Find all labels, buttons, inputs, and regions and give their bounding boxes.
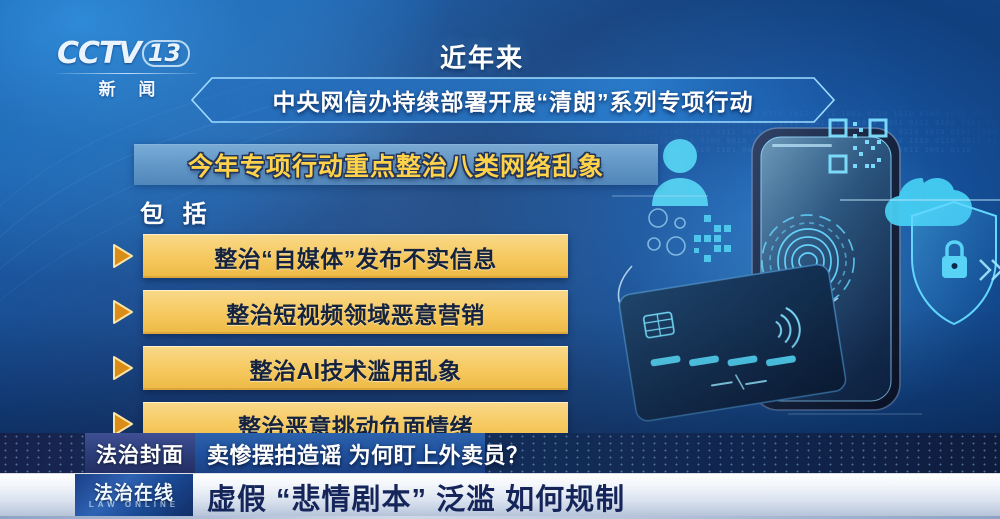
channel-number: 13 bbox=[142, 40, 190, 67]
headline-banner-text: 中央网信办持续部署开展“清朗”系列专项行动 bbox=[190, 76, 836, 124]
ticker-category-label: 法治封面 bbox=[85, 433, 195, 474]
headline-banner: 中央网信办持续部署开展“清朗”系列专项行动 bbox=[190, 76, 836, 124]
section-intro-label: 包 括 bbox=[140, 194, 213, 229]
channel-name: 新 闻 bbox=[57, 75, 197, 100]
list-item[interactable]: 整治短视频领域恶意营销 bbox=[108, 290, 568, 334]
program-name-en: LAW ONLINE bbox=[75, 500, 193, 509]
lower-third-ticker: 法治封面 卖惨摆拍造谣 为何盯上外卖员？ 法治在线 LAW ONLINE 虚假 … bbox=[0, 433, 1000, 519]
broadcast-screen: 01001 11010 00111 10110 0101 1100 10 011… bbox=[0, 0, 1000, 519]
section-gold-bar-text: 今年专项行动重点整治八类网络乱象 bbox=[188, 147, 604, 183]
list-item-label: 整治“自媒体”发布不实信息 bbox=[214, 240, 497, 274]
arrow-right-icon bbox=[108, 297, 138, 327]
list-item[interactable]: 整治“自媒体”发布不实信息 bbox=[108, 234, 568, 278]
cctv-wordmark: CCTV bbox=[57, 36, 141, 71]
cctv13-logo: CCTV 13 新 闻 bbox=[57, 36, 197, 100]
section-gold-bar: 今年专项行动重点整治八类网络乱象 bbox=[134, 144, 658, 185]
list-item[interactable]: 整治AI技术滥用乱象 bbox=[108, 346, 568, 390]
measures-list: 整治“自媒体”发布不实信息 整治短视频领域恶意营销 整治AI技术滥用乱象 bbox=[108, 234, 568, 458]
list-item-pill[interactable]: 整治“自媒体”发布不实信息 bbox=[143, 234, 568, 278]
list-item-label: 整治AI技术滥用乱象 bbox=[250, 352, 462, 386]
list-item-label: 整治短视频领域恶意营销 bbox=[226, 296, 485, 330]
ticker-headline-top: 卖惨摆拍造谣 为何盯上外卖员？ bbox=[207, 433, 529, 474]
list-item-pill[interactable]: 整治AI技术滥用乱象 bbox=[143, 346, 568, 390]
arrow-right-icon bbox=[108, 353, 138, 383]
program-logo: 法治在线 LAW ONLINE bbox=[75, 474, 193, 519]
arrow-right-icon bbox=[108, 241, 138, 271]
ticker-headline-bottom: 虚假 “悲情剧本” 泛滥 如何规制 bbox=[207, 474, 625, 519]
logo-divider bbox=[57, 73, 197, 74]
list-item-pill[interactable]: 整治短视频领域恶意营销 bbox=[143, 290, 568, 334]
logo-row: CCTV 13 bbox=[57, 36, 197, 71]
headline-kicker: 近年来 bbox=[440, 38, 524, 75]
